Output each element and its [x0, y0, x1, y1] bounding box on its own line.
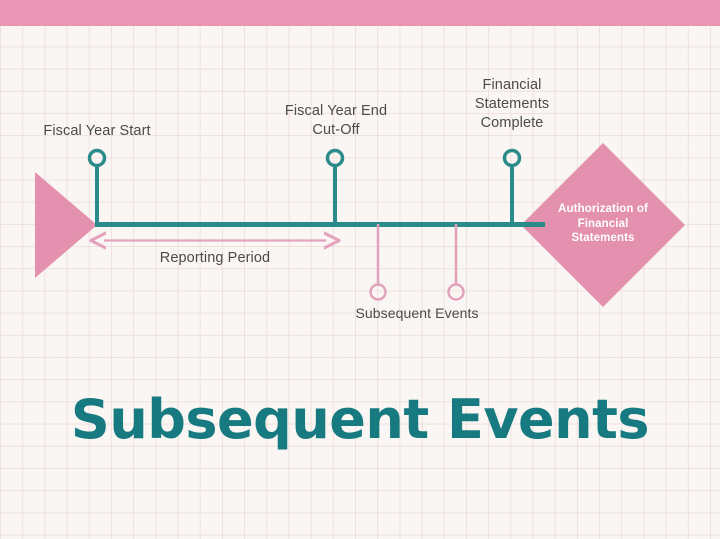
milestone-marker-financial-statements-complete	[505, 151, 520, 166]
start-triangle-shape	[35, 172, 97, 278]
authorization-diamond-label: Authorization of Financial Statements	[527, 202, 679, 246]
subsequent-events-label: Subsequent Events	[332, 304, 502, 323]
milestone-label-financial-statements-complete: Financial Statements Complete	[429, 76, 595, 133]
slide-canvas: Fiscal Year Start Fiscal Year End Cut-Of…	[0, 0, 720, 539]
page-title: Subsequent Events	[0, 388, 720, 451]
milestone-label-fiscal-year-start: Fiscal Year Start	[14, 122, 180, 141]
subsequent-event-marker-2	[449, 285, 464, 300]
milestone-marker-fiscal-year-end-cutoff	[328, 151, 343, 166]
reporting-period-label: Reporting Period	[100, 249, 330, 268]
milestone-marker-fiscal-year-start	[90, 151, 105, 166]
subsequent-event-marker-1	[371, 285, 386, 300]
milestone-label-fiscal-year-end-cutoff: Fiscal Year End Cut-Off	[253, 102, 419, 140]
timeline-diagram	[0, 0, 720, 539]
